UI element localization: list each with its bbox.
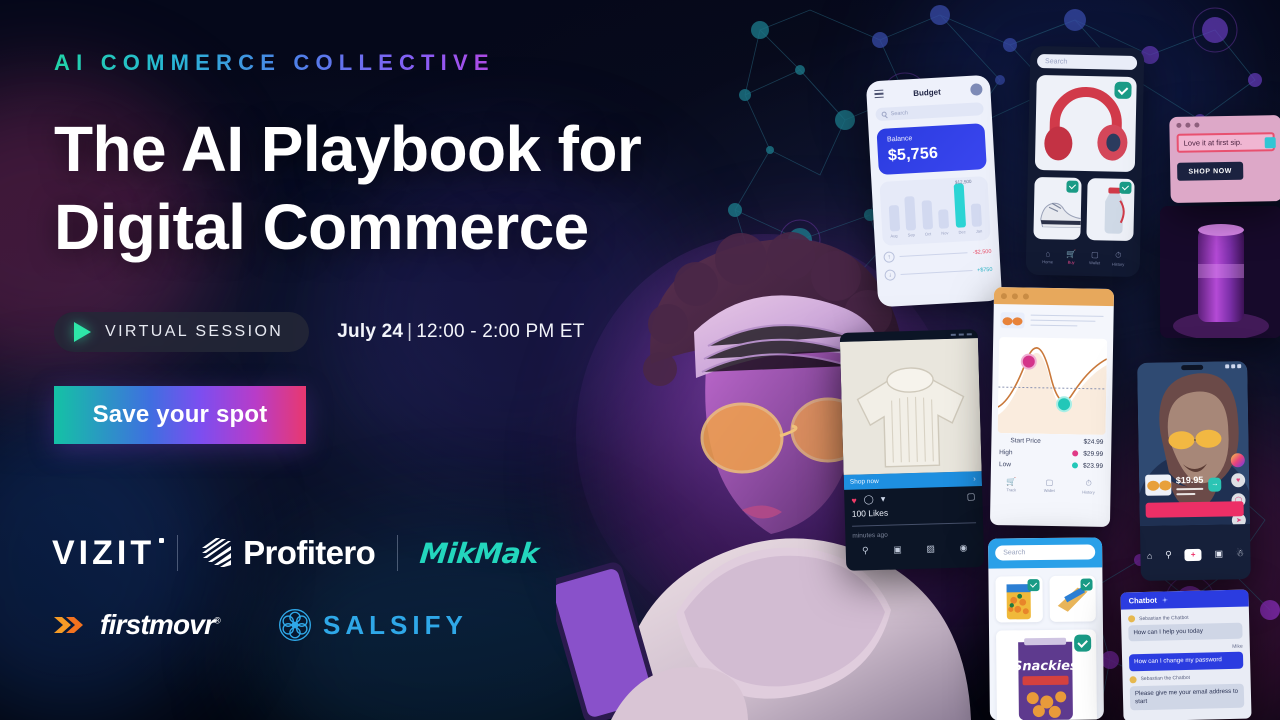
arrow-down-icon: ↓ — [884, 269, 896, 281]
sneakers-image — [1037, 193, 1082, 228]
chart-peak-label: $12,500 — [955, 179, 972, 185]
balance-card: Balance $5,756 — [876, 123, 986, 175]
logo-mikmak: MikMak — [419, 537, 541, 570]
nav-label: Wallet — [1044, 488, 1055, 493]
avatar[interactable] — [970, 83, 983, 96]
logo-profitero: Profitero — [200, 534, 375, 572]
placeholder-line — [900, 252, 968, 257]
product-card-mixed-snacks[interactable] — [995, 576, 1042, 622]
logo-firstmovr-tm: ® — [214, 616, 220, 626]
message-sender-bot: Sebastian the Chatbot — [1128, 613, 1242, 623]
mockup-social-post: Shop now › ♥ ◯ ▾ ▢ 100 Likes minutes ago… — [840, 329, 985, 571]
chat-bubble-bot: How can I help you today — [1128, 623, 1242, 642]
virtual-session-badge: VIRTUAL SESSION — [54, 312, 309, 352]
legend-dot — [999, 437, 1005, 443]
search-icon[interactable]: ⚲ — [862, 545, 869, 556]
svg-text:Snackies: Snackies — [1013, 659, 1078, 675]
nav-item-history[interactable]: ⏱ History — [1082, 478, 1095, 494]
transaction-value: +$750 — [977, 266, 993, 273]
legend-dot-low — [1072, 463, 1078, 469]
play-icon — [74, 322, 91, 342]
check-icon — [1027, 579, 1039, 591]
product-grid — [1033, 177, 1134, 241]
bot-name: Sebastian the Chatbot — [1139, 614, 1189, 621]
price-history-chart — [998, 337, 1108, 435]
mockup-drink-can — [1160, 206, 1280, 338]
mockup-grocery-app: Search — [988, 537, 1104, 720]
shop-bag-icon[interactable]: ▣ — [893, 544, 902, 555]
budget-topbar: Budget — [874, 83, 983, 101]
home-icon[interactable]: ⌂ — [1147, 550, 1153, 560]
placeholder-line — [901, 270, 972, 275]
mockup-chatbot: Chatbot ✦ Sebastian the Chatbot How can … — [1120, 589, 1251, 720]
chat-bubble-user: How can I change my password — [1129, 652, 1243, 671]
check-icon — [1119, 182, 1131, 194]
legend-value: $24.99 — [1083, 438, 1103, 445]
sip-headline: Love it at first sip. — [1184, 138, 1243, 148]
nav-item-home[interactable]: ⌂ Home — [1036, 249, 1060, 265]
snackies-bag-image: Snackies — [1010, 632, 1081, 720]
sponsor-row-1: VIZIT Profitero MikMak — [52, 525, 539, 581]
bar — [938, 209, 949, 229]
check-icon — [1080, 579, 1092, 591]
axis-label: Jan — [976, 228, 983, 233]
session-date: July 24 — [337, 321, 403, 342]
heart-icon[interactable]: ♥ — [1231, 473, 1245, 487]
message-sender-bot: Sebastian the Chatbot — [1129, 673, 1243, 683]
product-card-snack-bar[interactable] — [1049, 575, 1096, 621]
price-legend: Start Price $24.99 High $29.99 Low $23.9… — [991, 433, 1112, 470]
product-card-sneakers[interactable] — [1033, 177, 1081, 240]
logo-divider-2 — [397, 535, 398, 571]
video-frame: ♥ ◯ ➤ $19.95 → — [1137, 361, 1250, 526]
avatar — [1128, 615, 1135, 622]
history-icon: ⏱ — [1106, 250, 1130, 260]
sparkle-icon: ✦ — [1162, 596, 1168, 604]
axis-label: Aug — [890, 233, 897, 238]
grocery-product-row — [988, 567, 1103, 622]
axis-label: Dec — [958, 229, 965, 234]
nav-item-history[interactable]: ⏱ History — [1106, 250, 1130, 266]
product-thumbnail — [1000, 312, 1024, 328]
budget-search-placeholder: Search — [890, 110, 908, 117]
product-card-headphones[interactable] — [1035, 75, 1137, 172]
logo-profitero-text: Profitero — [243, 534, 375, 572]
cart-icon: 🛒 — [1006, 477, 1016, 486]
logo-salsify-text: SALSIFY — [323, 610, 468, 641]
product-thumbnail — [1145, 474, 1171, 495]
legend-label: Start Price — [1010, 437, 1083, 445]
search-icon — [881, 112, 886, 117]
placeholder-line — [1176, 487, 1204, 489]
placeholder-line — [1176, 492, 1195, 494]
shop-search-input[interactable]: Search — [1037, 54, 1137, 70]
sponsor-logos: VIZIT Profitero MikMak — [52, 525, 539, 653]
mockup-video-shopping: ♥ ◯ ➤ $19.95 → — [1137, 361, 1251, 581]
status-icons — [1225, 364, 1241, 368]
logo-vizit-text: VIZIT — [52, 534, 155, 572]
cart-icon: 🛒 — [1059, 249, 1083, 258]
product-overlay[interactable]: $19.95 → — [1145, 474, 1221, 496]
sponsor-row-2: firstmovr® SALSIFY — [52, 597, 539, 653]
product-price: $19.95 — [1176, 474, 1204, 484]
home-icon: ⌂ — [1036, 249, 1060, 258]
bottle-image — [1098, 186, 1129, 237]
chatbot-messages: Sebastian the Chatbot How can I help you… — [1121, 606, 1252, 720]
phone-notch — [1181, 365, 1203, 370]
grocery-search-placeholder: Search — [1003, 549, 1025, 556]
session-badge-label: VIRTUAL SESSION — [105, 323, 283, 341]
sweater-image — [840, 338, 982, 475]
legend-label: Low — [999, 461, 1072, 469]
nav-label: Wallet — [1083, 260, 1107, 265]
nav-label: Buy — [1059, 259, 1083, 264]
salsify-flower-icon — [278, 608, 312, 642]
legend-value: $29.99 — [1083, 450, 1103, 457]
budget-transaction-rows: ↑ -$2,500 ↓ +$750 — [883, 246, 992, 281]
promo-banner: AI COMMERCE COLLECTIVE The AI Playbook f… — [0, 0, 1280, 720]
legend-row: Start Price $24.99 — [999, 437, 1103, 446]
wallet-icon: ▢ — [1083, 250, 1107, 259]
history-icon: ⏱ — [1082, 478, 1095, 488]
axis-label: Sep — [908, 232, 915, 237]
shop-now-button[interactable]: SHOP NOW — [1177, 162, 1243, 181]
axis-label: Nov — [941, 230, 948, 235]
legend-label: High — [999, 449, 1072, 457]
nav-item-wallet[interactable]: ▢ Wallet — [1083, 250, 1107, 266]
profile-avatar[interactable] — [1231, 453, 1245, 467]
browser-chrome — [994, 287, 1114, 306]
price-line-chart — [998, 337, 1108, 435]
drink-can-image — [1160, 206, 1280, 338]
check-icon — [1114, 82, 1131, 99]
profile-icon[interactable]: ◉ — [959, 542, 967, 553]
tracker-text-lines — [1030, 313, 1106, 331]
save-your-spot-button[interactable]: Save your spot — [54, 386, 306, 444]
bar — [889, 205, 900, 232]
eyebrow-text: AI COMMERCE COLLECTIVE — [54, 50, 694, 76]
profitero-mark-icon — [200, 536, 236, 570]
bookmark-icon[interactable]: ▢ — [967, 491, 976, 502]
window-dots — [1176, 121, 1274, 128]
chevron-right-icon: › — [973, 474, 976, 483]
comment-icon[interactable]: ◯ — [864, 494, 874, 505]
tracker-header — [993, 304, 1113, 331]
inbox-icon[interactable]: ▣ — [1214, 549, 1223, 560]
sunglasses-icon — [1145, 474, 1171, 495]
shop-now-label: SHOP NOW — [1188, 167, 1232, 175]
bar-highlighted — [953, 183, 965, 227]
mockup-shop-app: Search — [1026, 46, 1145, 277]
balance-label: Balance — [887, 132, 975, 144]
nav-label: History — [1082, 489, 1095, 494]
cursor-icon — [1265, 137, 1276, 148]
nav-item-buy[interactable]: 🛒 Buy — [1059, 249, 1083, 265]
mockup-price-tracker: Start Price $24.99 High $29.99 Low $23.9… — [990, 287, 1114, 527]
product-card-snackies[interactable]: Snackies — [996, 629, 1097, 720]
check-icon — [1066, 181, 1078, 193]
nav-item-wallet[interactable]: ▢ Wallet — [1044, 478, 1055, 494]
menu-icon[interactable] — [874, 90, 884, 101]
legend-dot-high — [1072, 451, 1078, 457]
legend-row: Low $23.99 — [999, 461, 1103, 470]
product-card-bottle[interactable] — [1086, 178, 1134, 241]
firstmovr-chevron-icon — [52, 611, 90, 639]
transaction-value: -$2,500 — [973, 248, 992, 255]
logo-vizit-dot — [159, 538, 164, 543]
sweater-illustration — [840, 338, 982, 475]
logo-firstmovr: firstmovr® — [52, 609, 220, 641]
budget-bar-chart: $12,500 Aug Sep Oct Nov Dec Jan — [879, 176, 990, 246]
budget-title: Budget — [913, 87, 941, 98]
nav-label: History — [1106, 261, 1130, 266]
tracker-bottom-nav: 🛒 Track ▢ Wallet ⏱ History — [990, 473, 1110, 495]
share-icon[interactable]: ▾ — [881, 494, 886, 505]
chat-bubble-bot: Please give me your email address to sta… — [1130, 683, 1245, 710]
logo-vizit: VIZIT — [52, 534, 155, 573]
bar — [971, 203, 982, 227]
sunglasses-thumb-icon — [1000, 312, 1024, 328]
sip-headline-field[interactable]: Love it at first sip. — [1177, 132, 1275, 153]
logo-divider-1 — [177, 535, 178, 571]
grocery-search-bar: Search — [988, 537, 1102, 568]
nav-item-track[interactable]: 🛒 Track — [1006, 477, 1016, 493]
nav-label: Home — [1036, 259, 1060, 264]
create-button[interactable]: + — [1185, 548, 1202, 560]
datetime-separator: | — [407, 321, 412, 342]
product-info: $19.95 — [1176, 474, 1204, 494]
bar — [921, 200, 933, 230]
bar-group — [886, 182, 984, 231]
budget-search-input[interactable]: Search — [875, 102, 984, 121]
logo-firstmovr-word: firstmovr — [100, 609, 214, 640]
search-icon[interactable]: ⚲ — [1165, 549, 1172, 560]
legend-row: High $29.99 — [999, 449, 1103, 458]
bot-name: Sebastian the Chatbot — [1140, 675, 1190, 682]
heart-icon[interactable]: ♥ — [851, 495, 857, 505]
shop-bottom-nav: ⌂ Home 🛒 Buy ▢ Wallet ⏱ History — [1033, 249, 1133, 267]
transaction-row: ↑ -$2,500 — [883, 246, 991, 263]
shop-now-label: Shop now — [850, 478, 879, 486]
bar — [905, 196, 917, 231]
avatar — [1129, 676, 1136, 683]
logo-salsify: SALSIFY — [278, 608, 468, 642]
headline-line-1: The AI Playbook for — [54, 110, 694, 188]
logo-firstmovr-text: firstmovr® — [100, 609, 220, 641]
nav-label: Track — [1006, 487, 1016, 492]
mockup-sip-ad: Love it at first sip. SHOP NOW — [1169, 115, 1280, 203]
mockup-budget-app: Budget Search Balance $5,756 $12,500 Aug — [866, 75, 1002, 308]
profile-icon[interactable]: ☃ — [1236, 548, 1244, 559]
grocery-search-input[interactable]: Search — [995, 544, 1095, 560]
legend-value: $23.99 — [1083, 462, 1103, 469]
video-bottom-nav: ⌂ ⚲ + ▣ ☃ — [1140, 524, 1251, 581]
balance-value: $5,756 — [888, 143, 977, 166]
bag-icon[interactable]: ▨ — [926, 543, 935, 554]
chatbot-title: Chatbot — [1129, 596, 1158, 606]
arrow-up-icon: ↑ — [883, 251, 895, 263]
shop-search-placeholder: Search — [1045, 58, 1067, 65]
check-icon — [1074, 635, 1091, 652]
add-to-cart-button[interactable]: → — [1208, 477, 1221, 491]
session-datetime: July 24|12:00 - 2:00 PM ET — [337, 321, 584, 343]
wallet-icon: ▢ — [1044, 478, 1055, 487]
transaction-row: ↓ +$750 — [884, 264, 992, 281]
video-cta-bar[interactable] — [1146, 501, 1244, 518]
axis-label: Oct — [925, 231, 932, 236]
